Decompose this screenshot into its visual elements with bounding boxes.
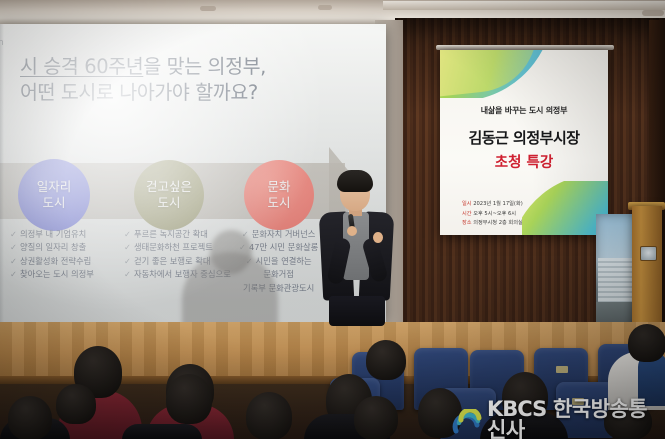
bullet-text: 찾아오는 도시 의정부 — [20, 269, 94, 279]
podium-emblem-icon — [640, 246, 657, 261]
check-icon: ✓ — [124, 269, 131, 279]
audience-person — [122, 424, 202, 439]
banner-info-label: 일시 — [462, 201, 472, 207]
slide-circle-jobs: 일자리 도시 — [18, 159, 90, 231]
banner-info-row: 장소 의정부시청 2층 회의실 — [462, 219, 523, 229]
speaker-hand-right — [373, 232, 383, 243]
bullet-text: 푸르른 녹지공간 확대 — [134, 229, 208, 239]
banner-city-logo: 내삶을 바꾸는 도시 의정부 — [440, 105, 608, 116]
ceiling-vent-icon — [318, 5, 332, 10]
circle-label-secondary: 도시 — [157, 195, 180, 211]
slide-title-underlined: 시 승격 60주년 — [20, 55, 143, 78]
bullet-text: 상권활성화 전략수립 — [20, 256, 91, 266]
slide-circle-culture: 문화 도시 — [244, 160, 314, 230]
banner-info-row: 시간 오후 5시~오후 6시 — [462, 210, 523, 220]
bullet-text: 47만 시민 문화살롱 — [249, 242, 318, 252]
ceiling-vent-icon — [200, 6, 216, 11]
slide-bullets-jobs: ✓의정부 내 기업유치 ✓양질의 일자리 창출 ✓상권활성화 전략수립 ✓찾아오… — [10, 228, 94, 282]
check-icon: ✓ — [124, 242, 131, 252]
photo-building — [598, 258, 632, 302]
banner-info-value: 오후 5시~오후 6시 — [473, 211, 516, 217]
banner-subtitle: 초청 특강 — [440, 151, 608, 172]
check-icon: ✓ — [124, 256, 131, 266]
watermark: KBCS 한국방송통신사 KOREA BROADCASTING COMMUNIC… — [452, 399, 665, 439]
list-item: ✓문화자치 거버넌스 — [239, 228, 318, 241]
ceiling-speaker-icon — [642, 10, 664, 16]
circle-label-primary: 문화 — [267, 179, 290, 195]
check-icon: ✓ — [10, 229, 17, 239]
banner-title: 김동근 의정부시장 — [440, 127, 608, 148]
audience-head — [354, 396, 398, 439]
list-item: ✓의정부 내 기업유치 — [10, 228, 94, 241]
event-banner: 내삶을 바꾸는 도시 의정부 김동근 의정부시장 초청 특강 일시 2023년 … — [440, 50, 608, 235]
screenshot-scene: n 시 승격 60주년을 맞는 의정부, 어떤 도시로 나아가야 할까요? 일자… — [0, 0, 665, 439]
list-item: ✓양질의 일자리 창출 — [10, 241, 94, 254]
audience-head — [166, 374, 212, 424]
bullet-text: 문화자치 거버넌스 — [252, 229, 316, 239]
watermark-brand: KBCS 한국방송통신사 — [487, 399, 665, 439]
banner-info-value: 2023년 1월 17일(화) — [473, 201, 523, 207]
check-icon: ✓ — [10, 242, 17, 252]
check-icon: ✓ — [10, 269, 17, 279]
kbcs-logo-icon — [452, 409, 482, 439]
circle-label-secondary: 도시 — [267, 195, 290, 211]
seat-number-tag — [556, 366, 568, 373]
bullet-text: 시민을 연결하는 — [256, 256, 312, 266]
check-icon: ✓ — [124, 229, 131, 239]
bullet-text: 양질의 일자리 창출 — [20, 242, 86, 252]
ceiling-light-strip — [383, 1, 665, 10]
audience-head — [8, 396, 52, 439]
speaker-lower-body — [329, 296, 385, 326]
banner-info-block: 일시 2023년 1월 17일(화) 시간 오후 5시~오후 6시 장소 의정부… — [462, 200, 523, 229]
circle-label-secondary: 도시 — [42, 195, 65, 211]
slide-circle-walkable: 걷고싶은 도시 — [134, 160, 204, 230]
screen-left-edge — [0, 24, 4, 324]
audience-head — [366, 340, 406, 380]
slide-title: 시 승격 60주년을 맞는 의정부, 어떤 도시로 나아가야 할까요? — [20, 54, 360, 107]
banner-info-label: 장소 — [462, 220, 472, 226]
banner-top-graphic — [440, 50, 608, 98]
check-icon: ✓ — [10, 256, 17, 266]
speaker-figure — [313, 168, 399, 324]
list-item: ✓상권활성화 전략수립 — [10, 255, 94, 268]
slide-title-line-2: 어떤 도시로 나아가야 할까요? — [20, 80, 360, 106]
speaker-hair — [337, 170, 373, 192]
banner-info-label: 시간 — [462, 211, 472, 217]
circle-label-primary: 걷고싶은 — [146, 179, 192, 195]
slide-title-line-1: 시 승격 60주년을 맞는 의정부, — [20, 54, 360, 80]
audience-head — [246, 392, 292, 439]
audience-head — [628, 324, 665, 362]
kbcs-logo-svg — [452, 409, 482, 439]
slide-title-line-1-rest: 을 맞는 의정부, — [143, 55, 266, 78]
audience-head — [56, 384, 96, 424]
bullet-text: 의정부 내 기업유치 — [20, 229, 86, 239]
bullet-text: 생태문화하천 프로젝트 — [134, 242, 213, 252]
list-item: ✓찾아오는 도시 의정부 — [10, 268, 94, 281]
banner-info-value: 의정부시청 2층 회의실 — [473, 220, 523, 226]
banner-info-row: 일시 2023년 1월 17일(화) — [462, 200, 523, 210]
circle-label-primary: 일자리 — [37, 179, 72, 195]
speaker-hand-with-mic — [347, 226, 357, 236]
watermark-text: KBCS 한국방송통신사 KOREA BROADCASTING COMMUNIC… — [487, 399, 665, 439]
